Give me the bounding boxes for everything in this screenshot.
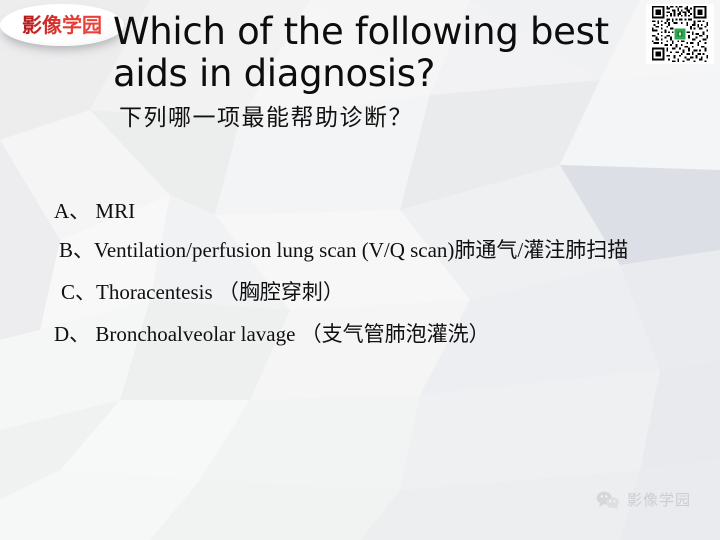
option-c[interactable]: C、Thoracentesis （胸腔穿刺） [54, 277, 684, 307]
option-b[interactable]: B、Ventilation/perfusion lung scan (V/Q s… [54, 235, 684, 265]
footer-watermark: 影像学园 [596, 489, 691, 510]
page-title: Which of the following best aids in diag… [113, 11, 673, 95]
watermark-label: 影像学园 [627, 489, 691, 510]
logo-label: 影像学园 [0, 4, 124, 46]
wechat-icon [596, 490, 620, 510]
page-subtitle-chinese: 下列哪一项最能帮助诊断？ [119, 104, 413, 132]
slide-canvas: 影像学园 [0, 0, 720, 540]
brand-logo: 影像学园 [0, 4, 124, 48]
option-d[interactable]: D、 Bronchoalveolar lavage （支气管肺泡灌洗） [54, 319, 684, 349]
answer-options-list: A、 MRI B、Ventilation/perfusion lung scan… [54, 196, 684, 360]
option-a[interactable]: A、 MRI [54, 196, 684, 226]
